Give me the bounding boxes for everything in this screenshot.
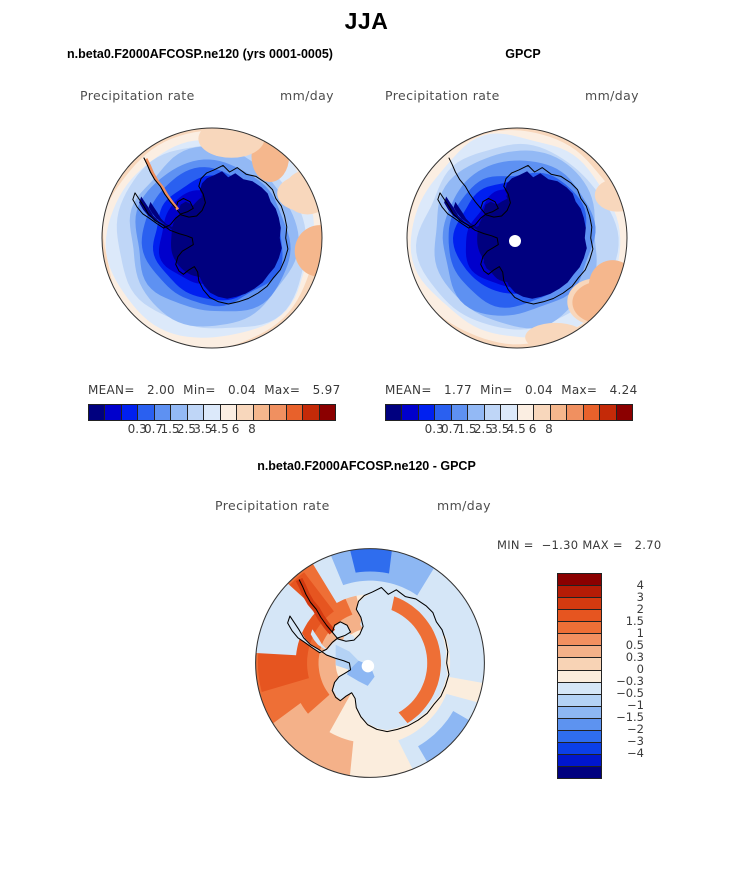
colorbar-cell [386, 405, 402, 420]
colorbar-cell [105, 405, 121, 420]
difference-polar-map [240, 533, 500, 793]
colorbar-cell [518, 405, 534, 420]
model-polar-map [87, 113, 337, 363]
model-variable-label: Precipitation rate [80, 88, 240, 103]
colorbar-tick-label: 4.5 [507, 422, 526, 436]
colorbar-tick-label: −4 [604, 746, 644, 760]
pole-missing-data-marker [509, 235, 521, 247]
colorbar-cell [558, 658, 601, 670]
obs-colorbar [385, 404, 633, 421]
colorbar-cell [155, 405, 171, 420]
colorbar-cell [558, 707, 601, 719]
difference-stats: MIN = −1.30 MAX = 2.70 [497, 538, 717, 552]
colorbar-tick-label: 8 [545, 422, 553, 436]
colorbar-cell [558, 574, 601, 586]
colorbar-cell [419, 405, 435, 420]
season-title: JJA [0, 8, 733, 35]
colorbar-cell [221, 405, 237, 420]
colorbar-cell [122, 405, 138, 420]
colorbar-cell [204, 405, 220, 420]
colorbar-cell [402, 405, 418, 420]
obs-polar-map [392, 113, 642, 363]
colorbar-cell [270, 405, 286, 420]
colorbar-cell [558, 646, 601, 658]
colorbar-cell [558, 622, 601, 634]
colorbar-cell [558, 598, 601, 610]
colorbar-cell [617, 405, 632, 420]
colorbar-cell [558, 695, 601, 707]
colorbar-tick-label: 6 [529, 422, 537, 436]
colorbar-cell [558, 683, 601, 695]
colorbar-cell [584, 405, 600, 420]
pole-missing-data-marker [362, 660, 374, 672]
obs-colorbar-ticks: 0.30.71.52.53.54.568 [385, 422, 633, 438]
colorbar-cell [468, 405, 484, 420]
colorbar-cell [600, 405, 616, 420]
colorbar-cell [558, 767, 601, 778]
colorbar-cell [435, 405, 451, 420]
colorbar-cell [237, 405, 253, 420]
colorbar-cell [254, 405, 270, 420]
difference-colorbar-ticks: 4321.510.50.30−0.3−0.5−1−1.5−2−3−4 [604, 573, 650, 777]
model-units-label: mm/day [280, 88, 380, 103]
colorbar-cell [138, 405, 154, 420]
obs-panel-title: GPCP [398, 47, 648, 61]
obs-stats: MEAN= 1.77 Min= 0.04 Max= 4.24 [385, 383, 635, 397]
obs-units-label: mm/day [585, 88, 685, 103]
difference-variable-label: Precipitation rate [215, 498, 385, 513]
colorbar-cell [320, 405, 335, 420]
obs-variable-label: Precipitation rate [385, 88, 545, 103]
difference-panel-title: n.beta0.F2000AFCOSP.ne120 - GPCP [120, 459, 613, 473]
difference-colorbar [557, 573, 602, 779]
colorbar-cell [287, 405, 303, 420]
colorbar-cell [558, 634, 601, 646]
colorbar-cell [485, 405, 501, 420]
colorbar-cell [558, 610, 601, 622]
colorbar-cell [534, 405, 550, 420]
colorbar-cell [551, 405, 567, 420]
colorbar-cell [452, 405, 468, 420]
colorbar-tick-label: 4.5 [210, 422, 229, 436]
model-colorbar-ticks: 0.30.71.52.53.54.568 [88, 422, 336, 438]
colorbar-cell [558, 743, 601, 755]
model-colorbar [88, 404, 336, 421]
colorbar-cell [558, 586, 601, 598]
colorbar-cell [171, 405, 187, 420]
colorbar-cell [303, 405, 319, 420]
colorbar-cell [567, 405, 583, 420]
colorbar-tick-label: 6 [232, 422, 240, 436]
model-stats: MEAN= 2.00 Min= 0.04 Max= 5.97 [88, 383, 338, 397]
colorbar-cell [558, 719, 601, 731]
colorbar-cell [558, 731, 601, 743]
model-panel-title: n.beta0.F2000AFCOSP.ne120 (yrs 0001-0005… [30, 47, 370, 61]
colorbar-cell [188, 405, 204, 420]
difference-units-label: mm/day [437, 498, 537, 513]
colorbar-cell [558, 671, 601, 683]
colorbar-cell [558, 755, 601, 767]
colorbar-cell [89, 405, 105, 420]
colorbar-cell [501, 405, 517, 420]
colorbar-tick-label: 8 [248, 422, 256, 436]
